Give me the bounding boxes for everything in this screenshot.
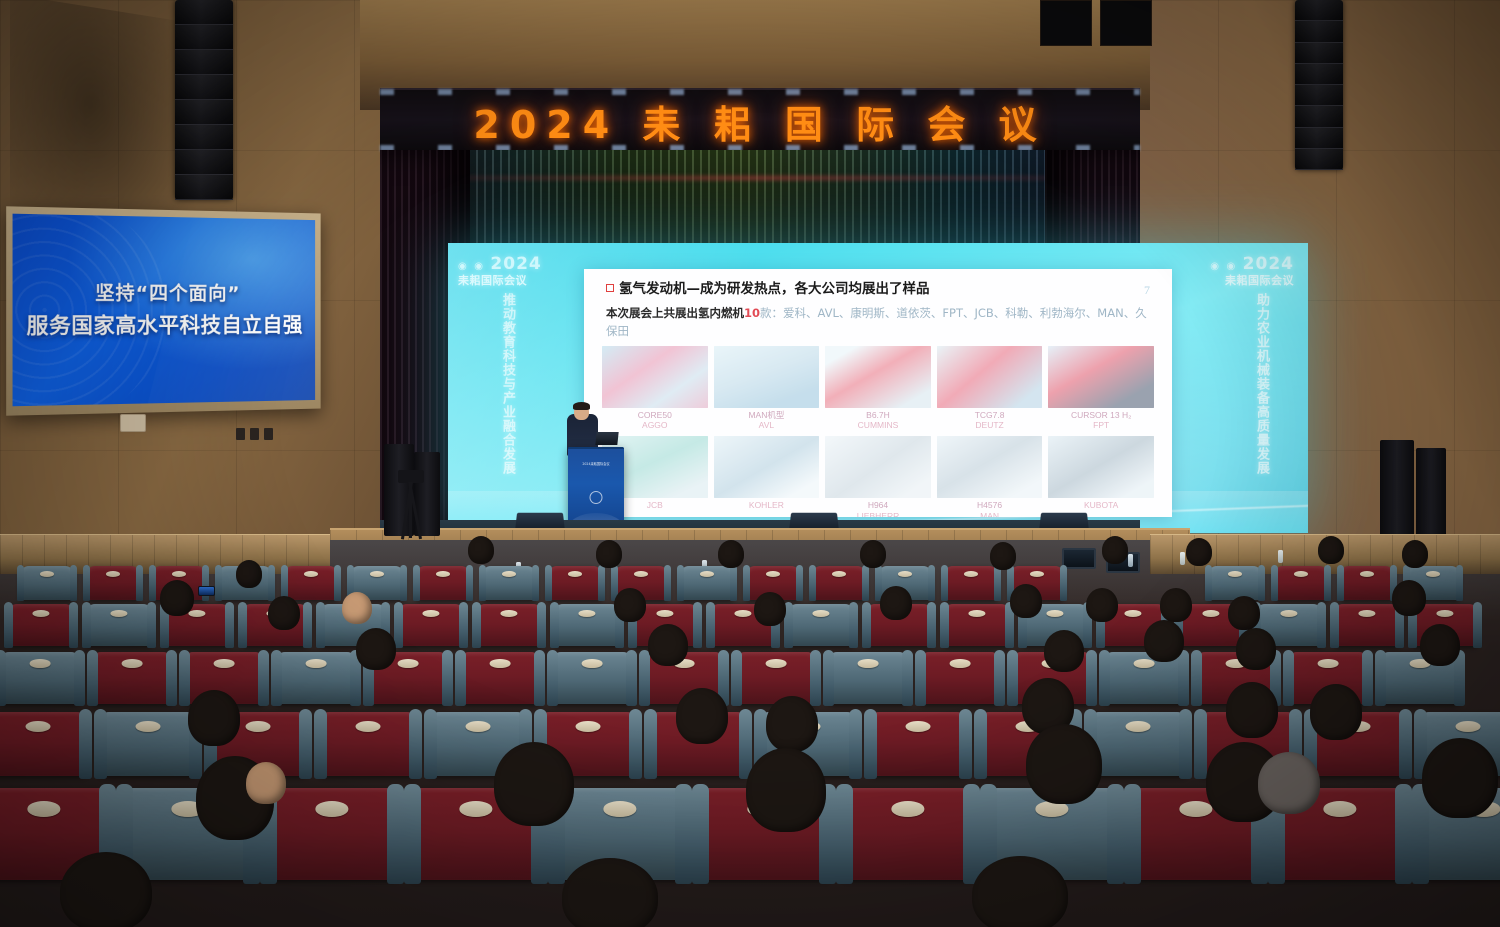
attendee-head [614, 588, 646, 622]
attendee-head [880, 586, 912, 620]
water-bottle [1278, 550, 1283, 563]
water-bottle [1128, 554, 1133, 567]
logo-emblem-icon: ◉ ◉ 2024 [458, 255, 542, 275]
attendee-head [718, 540, 744, 568]
seat[interactable] [680, 566, 734, 600]
attendee-head [1144, 620, 1184, 662]
attendee-head [1226, 682, 1278, 738]
attendee-head [972, 856, 1068, 927]
stage-speaker-stack-right-2 [1416, 448, 1446, 536]
slide-image-cell: CORE50 AGGO [602, 346, 708, 431]
wall-outlet [250, 428, 259, 440]
seat[interactable] [0, 712, 86, 776]
engine-brand: KOHLER [749, 500, 784, 511]
attendee-head [468, 536, 494, 564]
engine-model: TCG7.8 [975, 410, 1005, 421]
engine-caption: KUBOTA [1084, 500, 1118, 511]
seat[interactable] [554, 604, 620, 646]
seat[interactable] [86, 604, 152, 646]
seat[interactable] [92, 652, 172, 704]
seat[interactable] [944, 604, 1010, 646]
attendee-head [1402, 540, 1428, 568]
slide-image-cell: H4576 MAN [937, 436, 1043, 517]
seat[interactable] [416, 566, 470, 600]
slide-image-cell: CURSOR 13 H₂ FPT [1048, 346, 1154, 431]
left-led-wall: 坚持“四个面向” 服务国家高水平科技自立自强 [6, 206, 320, 415]
attendee-head [562, 858, 658, 927]
engine-caption: B6.7H CUMMINS [858, 410, 899, 431]
seat[interactable] [552, 652, 632, 704]
engine-photo [1048, 436, 1154, 498]
slide-image-cell: KUBOTA [1048, 436, 1154, 517]
slide-page-number: 7 [1144, 283, 1150, 298]
seat[interactable] [460, 652, 540, 704]
attendee-head [494, 742, 574, 826]
attendee-head [60, 852, 152, 927]
podium-emblem-icon [590, 491, 603, 504]
attendee-phone[interactable] [198, 586, 215, 596]
seat[interactable] [788, 604, 854, 646]
seat[interactable] [944, 566, 998, 600]
engine-caption: H4576 MAN [977, 500, 1002, 517]
seat[interactable] [284, 566, 338, 600]
engine-photo [602, 346, 708, 408]
attendee-head [188, 690, 240, 746]
slide-title-text: 氢气发动机—成为研发热点，各大公司均展出了样品 [619, 281, 930, 297]
engine-model: H4576 [977, 500, 1002, 511]
ceiling-vent [1100, 0, 1152, 46]
seat[interactable] [86, 566, 140, 600]
logo-emblem-icon: ◉ ◉ 2024 [1210, 255, 1294, 275]
podium-laptop [595, 432, 618, 445]
attendee-head [236, 560, 262, 588]
delegate-monitor [1062, 548, 1096, 569]
ceiling-vent [1040, 0, 1092, 46]
seat[interactable] [398, 604, 464, 646]
attendee-head [1392, 580, 1426, 616]
attendee-head [356, 628, 396, 670]
seat[interactable] [100, 712, 196, 776]
seat[interactable] [870, 712, 966, 776]
seat[interactable] [1208, 566, 1262, 600]
engine-brand: DEUTZ [975, 420, 1005, 431]
water-bottle [1180, 552, 1185, 565]
logo-year: 2024 [490, 254, 541, 274]
seat[interactable] [812, 566, 866, 600]
podium-top-surface [568, 447, 624, 449]
attendee-head [342, 592, 372, 624]
engine-photo [937, 436, 1043, 498]
seat[interactable] [1340, 566, 1394, 600]
wall-outlet [236, 428, 245, 440]
seat[interactable] [1334, 604, 1400, 646]
seat[interactable] [548, 566, 602, 600]
logo-text: 耒耜国际会议 [458, 275, 542, 288]
conference-logo-left: ◉ ◉ 2024 耒耜国际会议 [458, 255, 542, 287]
seat[interactable] [0, 652, 80, 704]
engine-caption: MAN机型 AVL [748, 410, 784, 431]
attendee-head [1236, 628, 1276, 670]
attendee-head [1026, 724, 1102, 804]
seat[interactable] [268, 788, 396, 880]
seat[interactable] [276, 652, 356, 704]
engine-photo [714, 346, 820, 408]
stage-top-glow [380, 176, 1140, 180]
engine-model: H964 [857, 500, 900, 511]
engine-brand: KUBOTA [1084, 500, 1118, 511]
engine-photo [825, 346, 931, 408]
slide-image-row-2: JCB KOHLER H964 LIEBHERR [598, 436, 1158, 517]
slide-image-row-1: CORE50 AGGO MAN机型 AVL B6.7H CUMMINS [598, 346, 1158, 431]
engine-caption: JCB [647, 500, 663, 511]
engine-model: CORE50 [638, 410, 672, 421]
slide-image-cell: KOHLER [714, 436, 820, 517]
engine-brand: AVL [748, 420, 784, 431]
engine-photo [937, 346, 1043, 408]
engine-brand: FPT [1071, 420, 1131, 431]
wall-panel-plate [120, 414, 146, 432]
podium-branding: 2024耒耜国际会议 [574, 461, 618, 467]
led-slogan: 坚持“四个面向” 服务国家高水平科技自立自强 [13, 277, 316, 340]
slide-title: 氢气发动机—成为研发热点，各大公司均展出了样品 [606, 281, 1158, 297]
line-array-speaker-right [1295, 0, 1343, 170]
seat[interactable] [1274, 566, 1328, 600]
stage-speaker-stack-right [1380, 440, 1414, 536]
logo-text: 耒耜国际会议 [1210, 275, 1294, 288]
attendee-head [648, 624, 688, 666]
engine-caption: CURSOR 13 H₂ FPT [1071, 410, 1131, 431]
attendee-head [1258, 752, 1320, 814]
seat[interactable] [320, 712, 416, 776]
logo-year: 2024 [1243, 254, 1294, 274]
attendee-hand [246, 762, 286, 804]
attendee-head [754, 592, 786, 626]
slide-subtitle-count: 10 [744, 306, 760, 320]
engine-caption: H964 LIEBHERR [857, 500, 900, 517]
attendee-head [1160, 588, 1192, 622]
slide-image-cell: MAN机型 AVL [714, 346, 820, 431]
attendee-head [1086, 588, 1118, 622]
tripod-leg [409, 482, 412, 538]
slide-image-cell: B6.7H CUMMINS [825, 346, 931, 431]
attendee-head [1228, 596, 1260, 630]
attendee-head [1310, 684, 1362, 740]
attendee-head [746, 748, 826, 832]
presentation-slide: 7 氢气发动机—成为研发热点，各大公司均展出了样品 本次展会上共展出氢内燃机10… [584, 269, 1172, 517]
seat[interactable] [476, 604, 542, 646]
seat[interactable] [8, 604, 74, 646]
wall-outlet [264, 428, 273, 440]
attendee-head [990, 542, 1016, 570]
presenter-hair [573, 402, 590, 410]
conference-logo-right: ◉ ◉ 2024 耒耜国际会议 [1210, 255, 1294, 287]
seat[interactable] [736, 652, 816, 704]
attendee-head [1186, 538, 1212, 566]
slide-image-cell: TCG7.8 DEUTZ [937, 346, 1043, 431]
attendee-head [1318, 536, 1344, 564]
engine-brand: CUMMINS [858, 420, 899, 431]
engine-caption: TCG7.8 DEUTZ [975, 410, 1005, 431]
attendee-head [1102, 536, 1128, 564]
attendee-head [766, 696, 818, 752]
engine-model: B6.7H [858, 410, 899, 421]
led-slogan-line1: 坚持“四个面向” [13, 277, 316, 305]
engine-photo [825, 436, 931, 498]
slide-subtitle-lead: 本次展会上共展出氢内燃机 [606, 306, 744, 320]
hall-banner-text: 2024 耒 耜 国 际 会 议 [473, 94, 1046, 149]
seat[interactable] [482, 566, 536, 600]
engine-photo [714, 436, 820, 498]
engine-brand: JCB [647, 500, 663, 511]
seat[interactable] [20, 566, 74, 600]
slide-subtitle: 本次展会上共展出氢内燃机10款：爱科、AVL、康明斯、道依茨、FPT、JCB、科… [606, 305, 1158, 341]
attendee-head [1420, 624, 1460, 666]
engine-brand: LIEBHERR [857, 511, 900, 517]
line-array-speaker-left [175, 0, 233, 200]
attendee-head [596, 540, 622, 568]
auditorium-scene: 2024 耒 耜 国 际 会 议 ◉ ◉ 2024 耒耜国际会议 ◉ ◉ 202… [0, 0, 1500, 927]
engine-caption: KOHLER [749, 500, 784, 511]
attendee-head [268, 596, 300, 630]
seat[interactable] [1090, 712, 1186, 776]
slide-image-cell: H964 LIEBHERR [825, 436, 931, 517]
attendee-head [1422, 738, 1498, 818]
attendee-head [860, 540, 886, 568]
engine-brand: MAN [977, 511, 1002, 517]
vertical-banner-left: 推动教育科技与产业融合发展 [484, 293, 514, 475]
attendee-head [1010, 584, 1042, 618]
led-slogan-line2: 服务国家高水平科技自立自强 [13, 309, 316, 340]
square-outline-icon [606, 284, 614, 292]
attendee-head [676, 688, 728, 744]
seat[interactable] [828, 652, 908, 704]
attendee-head [1044, 630, 1084, 672]
hall-banner: 2024 耒 耜 国 际 会 议 [380, 95, 1140, 147]
left-led-screen: 坚持“四个面向” 服务国家高水平科技自立自强 [13, 214, 316, 407]
engine-model: MAN机型 [748, 410, 784, 421]
engine-caption: CORE50 AGGO [638, 410, 672, 431]
vertical-banner-right: 助力农业机械装备高质量发展 [1238, 293, 1268, 475]
engine-photo [1048, 346, 1154, 408]
seat[interactable] [920, 652, 1000, 704]
engine-brand: AGGO [638, 420, 672, 431]
seat[interactable] [844, 788, 972, 880]
attendee-head [160, 580, 194, 616]
engine-model: CURSOR 13 H₂ [1071, 410, 1131, 421]
